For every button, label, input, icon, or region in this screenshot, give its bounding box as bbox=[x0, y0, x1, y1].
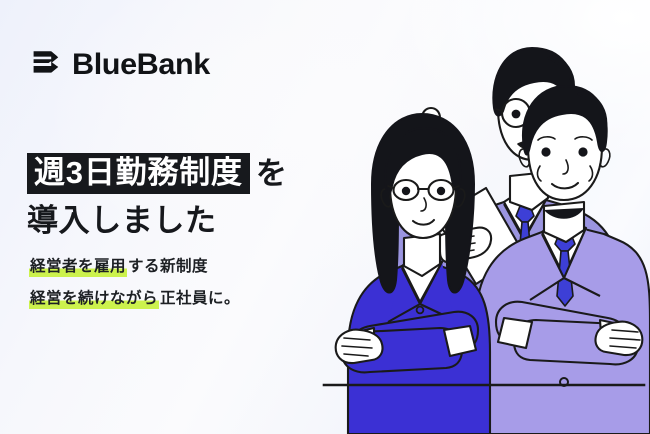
promo-banner: BlueBank 週3日勤務制度を 導入しました 経営者を雇用する新制度 経営を… bbox=[0, 0, 650, 434]
brand-name: BlueBank bbox=[72, 50, 210, 80]
figure-man-arms-crossed bbox=[476, 86, 650, 434]
subcopy-line-1-plain: する新制度 bbox=[127, 258, 209, 275]
subcopy: 経営者を雇用する新制度 経営を続けながら正社員に。 bbox=[29, 259, 359, 306]
subcopy-line-2-marked: 経営を続けながら bbox=[29, 290, 159, 309]
bluebank-b-mark-icon bbox=[31, 47, 61, 82]
subcopy-line-2: 経営を続けながら正社員に。 bbox=[29, 291, 359, 307]
subcopy-line-2-plain: 正社員に。 bbox=[159, 290, 241, 307]
headline-highlight: 週3日勤務制度 bbox=[27, 153, 250, 194]
headline-line-1-tail: を bbox=[256, 152, 288, 196]
headline-line-2: 導入しました bbox=[27, 199, 347, 243]
headline-line-1: 週3日勤務制度を bbox=[27, 150, 347, 196]
three-business-people-illustration: .ln { fill:none; stroke:#1a1a1a; stroke-… bbox=[318, 0, 650, 434]
subcopy-line-1-marked: 経営者を雇用 bbox=[29, 258, 127, 277]
subcopy-line-1: 経営者を雇用する新制度 bbox=[29, 259, 359, 275]
brand-logo: BlueBank bbox=[31, 47, 207, 82]
headline: 週3日勤務制度を 導入しました bbox=[27, 150, 347, 243]
